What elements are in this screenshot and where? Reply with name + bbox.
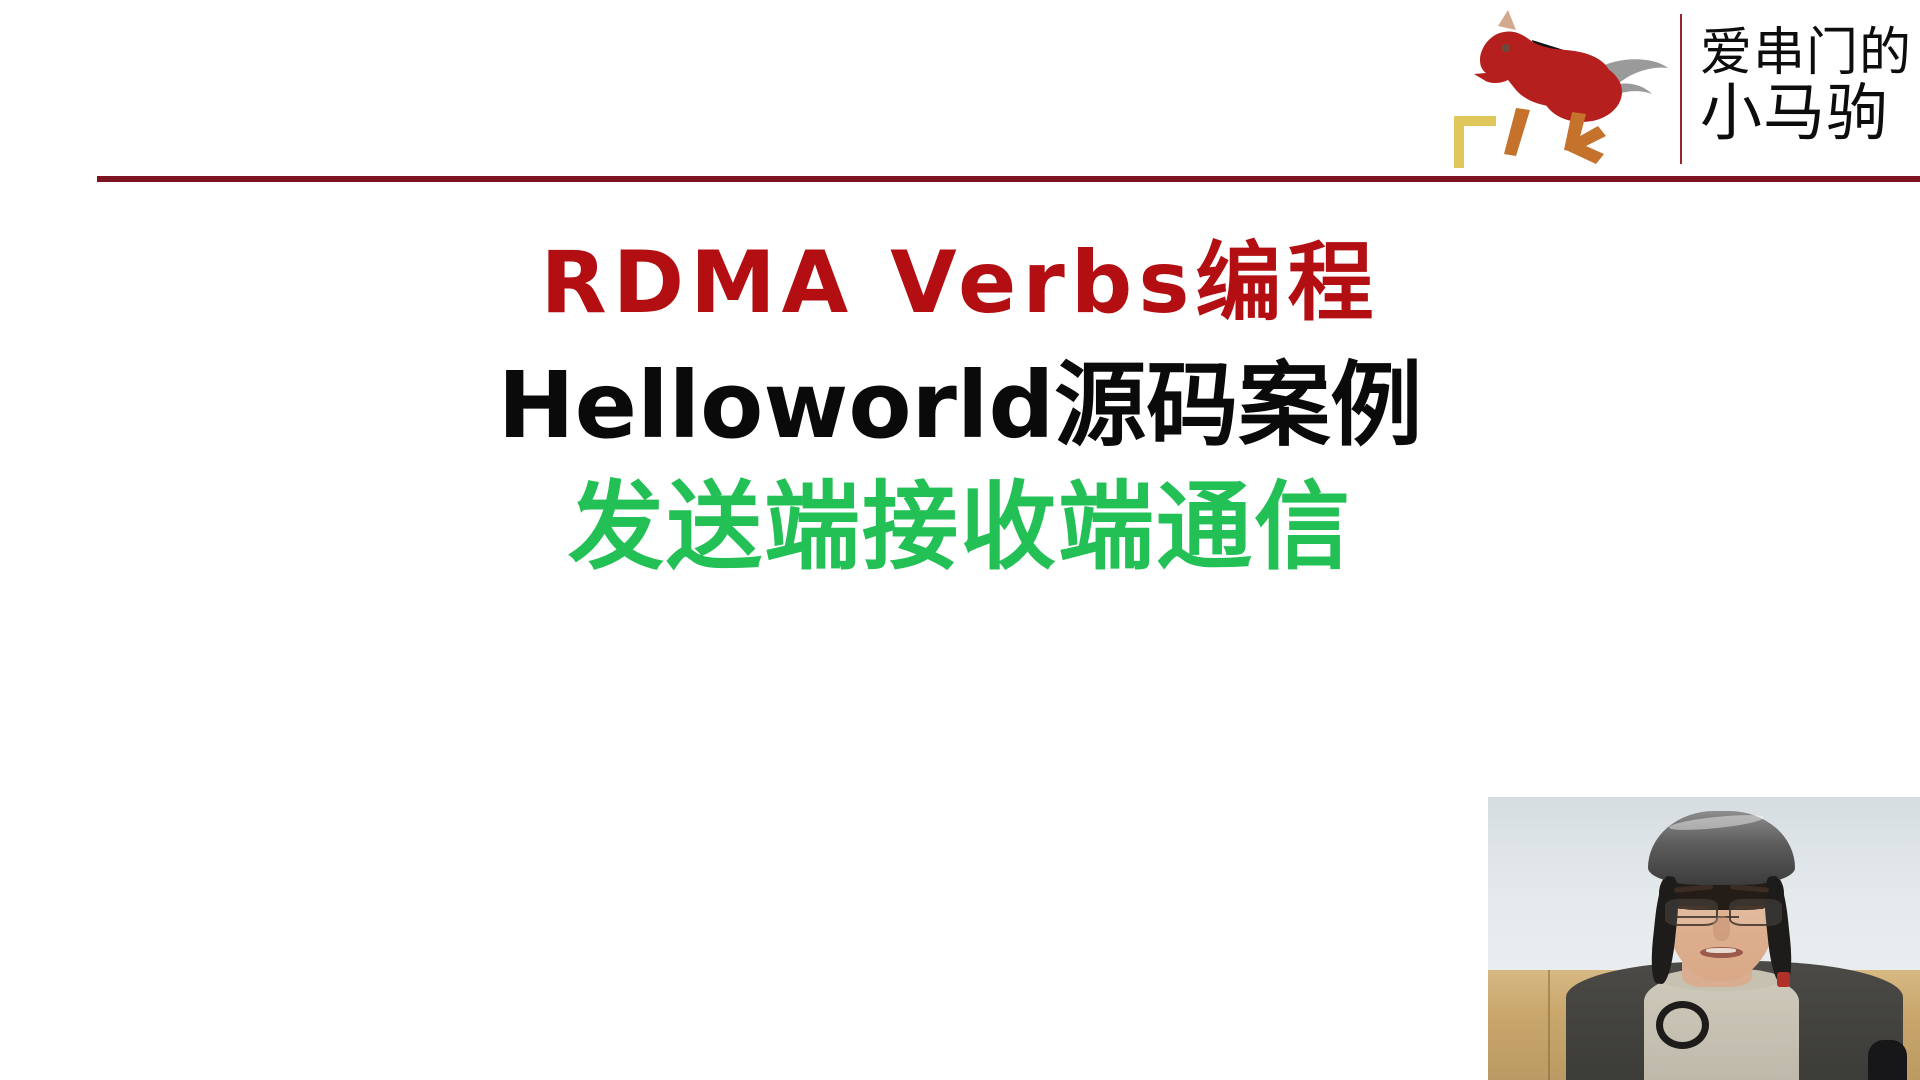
brand-text: 爱串门的 小马驹 xyxy=(1700,28,1912,150)
presenter-webcam-overlay[interactable] xyxy=(1488,797,1920,1080)
presenter-eye-right xyxy=(1734,906,1764,909)
presenter-nose xyxy=(1713,916,1730,941)
helmet-strap-loop xyxy=(1656,1001,1709,1049)
glasses-bridge xyxy=(1669,916,1738,918)
running-horse-logo-icon xyxy=(1446,4,1676,174)
brand-header: 爱串门的 小马驹 xyxy=(1446,0,1912,178)
title-line-secondary: Helloworld源码案例 xyxy=(0,348,1920,463)
title-line-tertiary: 发送端接收端通信 xyxy=(0,469,1920,586)
header-divider-rule xyxy=(97,176,1920,182)
brand-line-2: 小马驹 xyxy=(1700,83,1912,144)
title-line-primary: RDMA Verbs编程 xyxy=(0,230,1920,338)
presentation-slide: 爱串门的 小马驹 RDMA Verbs编程 Helloworld源码案例 发送端… xyxy=(0,0,1920,1080)
brand-line-1: 爱串门的 xyxy=(1700,28,1912,79)
brand-divider xyxy=(1680,14,1682,164)
helmet-strap-buckle xyxy=(1777,972,1790,986)
presenter-eye-left xyxy=(1678,906,1708,909)
title-stack: RDMA Verbs编程 Helloworld源码案例 发送端接收端通信 xyxy=(0,230,1920,586)
presenter-teeth xyxy=(1706,948,1736,953)
wainscot-seam xyxy=(1548,970,1550,1080)
microphone-icon xyxy=(1868,1040,1907,1080)
glasses-lens-right xyxy=(1729,899,1782,926)
glasses-lens-left xyxy=(1665,899,1718,926)
webcam-video-frame xyxy=(1488,797,1920,1080)
